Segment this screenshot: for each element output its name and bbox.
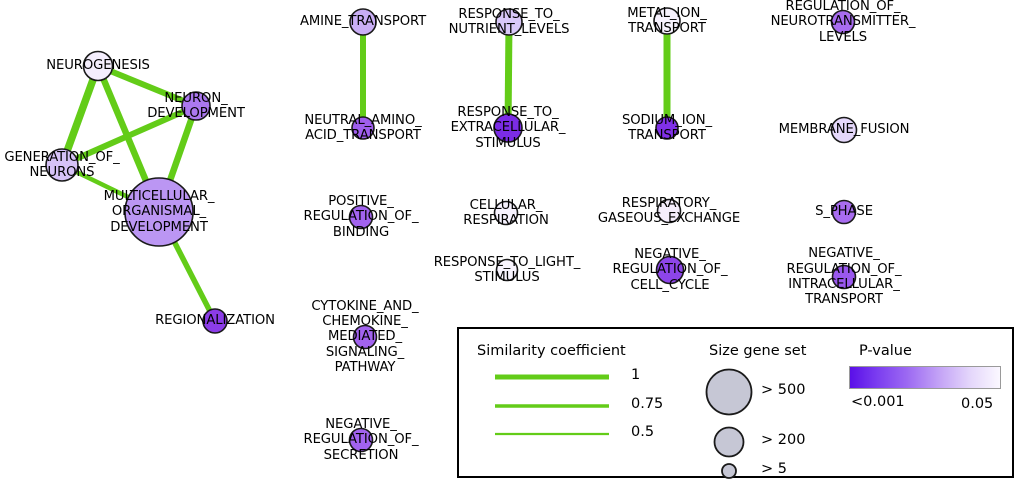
- network-node[interactable]: [495, 202, 518, 225]
- legend-size-circle: [722, 464, 736, 478]
- network-node[interactable]: [350, 206, 373, 229]
- network-node[interactable]: [496, 9, 522, 35]
- network-node[interactable]: [658, 200, 681, 223]
- network-node[interactable]: [354, 326, 377, 349]
- network-node[interactable]: [125, 178, 193, 246]
- network-edge: [508, 22, 509, 128]
- network-node[interactable]: [203, 309, 227, 333]
- network-node[interactable]: [84, 52, 113, 81]
- legend-similarity-value: 0.75: [631, 396, 663, 412]
- network-node[interactable]: [833, 201, 856, 224]
- legend-size-circles: [707, 370, 752, 479]
- network-node[interactable]: [497, 260, 518, 281]
- network-node[interactable]: [833, 266, 856, 289]
- network-node[interactable]: [350, 429, 373, 452]
- legend-size-value: > 5: [761, 461, 787, 477]
- pvalue-max-label: 0.05: [961, 396, 993, 412]
- network-node[interactable]: [832, 11, 855, 34]
- legend-size-circle: [707, 370, 752, 415]
- network-node[interactable]: [657, 257, 684, 284]
- edges-layer: [62, 21, 667, 321]
- network-node[interactable]: [46, 149, 78, 181]
- legend-similarity-value: 1: [631, 367, 640, 383]
- legend-size-circle: [715, 428, 744, 457]
- legend-similarity-value: 0.5: [631, 424, 654, 440]
- network-node[interactable]: [352, 117, 374, 139]
- legend-similarity-lines: [495, 377, 609, 434]
- network-node[interactable]: [494, 114, 522, 142]
- legend-panel: Similarity coefficient Size gene set P-v…: [457, 327, 1014, 478]
- network-node[interactable]: [654, 8, 680, 34]
- pvalue-min-label: <0.001: [851, 394, 905, 410]
- legend-size-value: > 500: [761, 382, 805, 398]
- network-node[interactable]: [832, 118, 857, 143]
- enrichment-map-figure: NEUROGENESISNEURON_ DEVELOPMENTGENERATIO…: [0, 0, 1020, 483]
- network-node[interactable]: [182, 92, 210, 120]
- legend-size-value: > 200: [761, 432, 805, 448]
- network-node[interactable]: [350, 9, 376, 35]
- pvalue-gradient-bar: [849, 366, 1001, 389]
- legend-glyphs: [459, 329, 1016, 480]
- network-node[interactable]: [656, 117, 678, 139]
